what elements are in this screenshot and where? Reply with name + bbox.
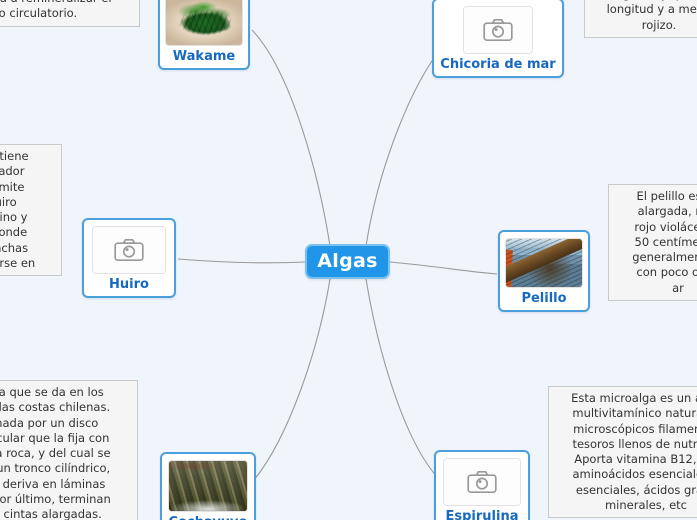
connector-cochayuyo [254,279,330,480]
connector-espirulina [366,279,438,478]
topic-node-cochayuyo[interactable]: Cochayuyo [160,452,256,520]
topic-node-pelillo[interactable]: Pelillo [498,230,590,312]
note-cochayuyo[interactable]: n alga que se da en los os de las costas… [0,380,138,520]
camera-icon [444,459,520,505]
note-pelillo[interactable]: El pelillo es de alargada, ram rojo viol… [608,184,697,301]
mindmap-canvas[interactable]: Algas Wakame Chicoria de mar [0,0,697,520]
note-chicoria[interactable]: alargadas y que son longitud y a menu ro… [584,0,697,38]
central-node-algas[interactable]: Algas [305,244,390,279]
camera-icon [464,7,532,53]
topic-node-huiro[interactable]: Huiro [82,218,176,298]
pelillo-harvest-photo[interactable] [505,238,583,288]
cochayuyo-seaweed-photo[interactable] [168,460,248,512]
camera-placeholder-icon[interactable] [92,226,166,274]
camera-placeholder-icon[interactable] [443,458,521,506]
wakame-seaweed-photo[interactable] [165,0,243,46]
cochayuyo-photo-surface [169,461,247,511]
topic-node-chicoria-de-mar-label: Chicoria de mar [440,58,555,73]
topic-node-wakame[interactable]: Wakame [158,0,250,70]
connector-wakame [252,30,330,246]
camera-placeholder-icon[interactable] [463,6,533,54]
wakame-photo-surface [166,0,242,45]
topic-node-cochayuyo-label: Cochayuyo [169,516,248,520]
note-huiro[interactable]: das tiene flotador permite huiro marino … [0,144,62,276]
topic-node-chicoria-de-mar[interactable]: Chicoria de mar [432,0,564,78]
connector-huiro [178,259,305,263]
topic-node-pelillo-label: Pelillo [521,292,566,307]
topic-node-espirulina[interactable]: Espirulina [434,450,530,520]
note-espirulina[interactable]: Esta microalga es un auté multivitamínic… [548,386,697,518]
note-wakame[interactable]: y ayuda a remineralizar el aparato circu… [0,0,140,27]
central-node-label: Algas [317,252,377,271]
camera-icon [93,227,165,273]
topic-node-wakame-label: Wakame [173,50,235,65]
connector-pelillo [390,262,497,274]
pelillo-photo-surface [506,239,582,287]
topic-node-espirulina-label: Espirulina [446,510,519,520]
topic-node-huiro-label: Huiro [109,278,149,293]
